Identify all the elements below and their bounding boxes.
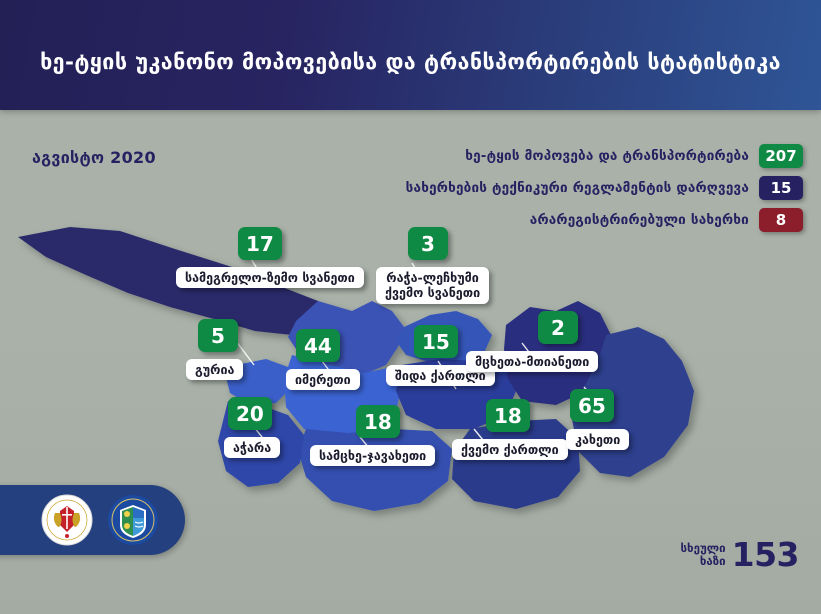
legend-item-harvest: ხე-ტყის მოპოვება და ტრანსპორტირება 207 [406, 144, 803, 168]
total-label: სხეული ხაზი [681, 542, 726, 567]
region-name-kvemo-kartli: ქვემო ქართლი [452, 439, 568, 460]
legend-label: სახერხების ტექნიკური რეგლამენტის დარღვევ… [406, 180, 749, 196]
total-word-2: ხაზი [700, 555, 726, 568]
region-value-racha: 3 [408, 227, 448, 260]
region-value-samtskhe: 18 [356, 405, 400, 438]
region-name-samegrelo: სამეგრელო-ზემო სვანეთი [176, 267, 364, 288]
region-name-racha: რაჭა-ლეჩხუმი ქვემო სვანეთი [376, 267, 489, 304]
date-label: აგვისტო 2020 [32, 148, 156, 167]
region-value-adjara: 20 [228, 397, 272, 430]
total-value: 153 [732, 535, 799, 574]
page-title: ხე-ტყის უკანონო მოპოვებისა და ტრანსპორტი… [40, 36, 781, 75]
legend-badge-green: 207 [759, 144, 803, 168]
region-name-imereti: იმერეთი [286, 369, 360, 390]
region-name-adjara: აჭარა [224, 437, 280, 458]
region-value-mtskheta: 2 [538, 311, 578, 344]
region-value-kakheti: 65 [570, 389, 614, 422]
agency-emblem-icon [107, 494, 159, 546]
region-name-samtskhe: სამცხე-ჯავახეთი [310, 445, 435, 466]
legend-badge-navy: 15 [759, 176, 803, 200]
header-banner: ხე-ტყის უკანონო მოპოვებისა და ტრანსპორტი… [0, 0, 821, 110]
region-samtskhe [298, 429, 452, 511]
infographic-root: ხე-ტყის უკანონო მოპოვებისა და ტრანსპორტი… [0, 0, 821, 614]
legend-item-sawmill-regulation: სახერხების ტექნიკური რეგლამენტის დარღვევ… [406, 176, 803, 200]
ministry-emblem-icon [41, 494, 93, 546]
total-summary: სხეული ხაზი 153 [681, 535, 799, 574]
region-name-guria: გურია [186, 359, 243, 380]
region-value-kvemo-kartli: 18 [486, 399, 530, 432]
region-value-samegrelo: 17 [238, 227, 282, 260]
legend-label: ხე-ტყის მოპოვება და ტრანსპორტირება [465, 148, 749, 164]
region-kvemo-kartli [452, 419, 580, 509]
emblem-panel [0, 485, 185, 555]
region-value-guria: 5 [198, 319, 238, 352]
region-name-kakheti: კახეთი [566, 429, 629, 450]
region-value-imereti: 44 [296, 329, 340, 362]
total-word-1: სხეული [681, 542, 726, 555]
region-name-mtskheta: მცხეთა-მთიანეთი [466, 351, 598, 372]
region-value-shida-kartli: 15 [414, 325, 458, 358]
